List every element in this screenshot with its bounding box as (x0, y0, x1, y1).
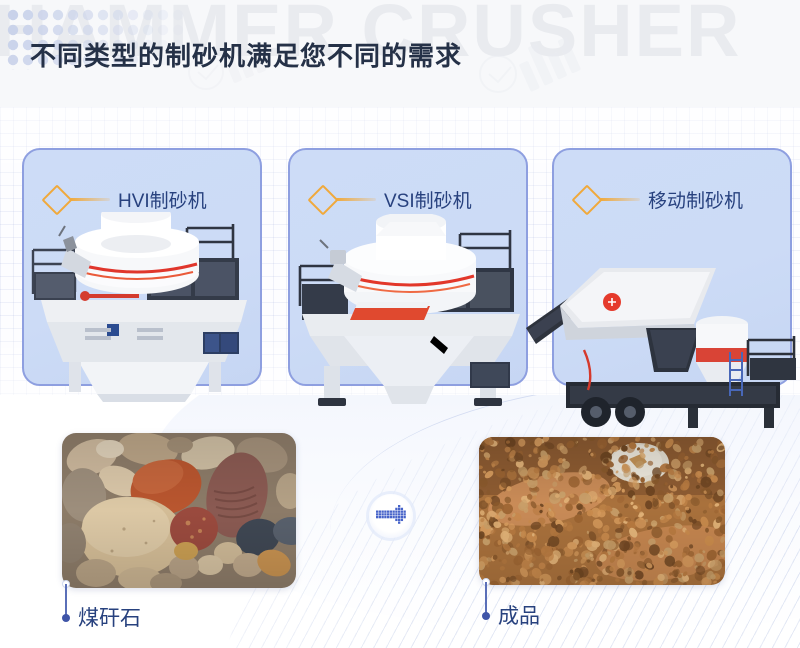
input-material-label: 煤矸石 (78, 602, 141, 632)
diamond-marker-icon (307, 184, 338, 215)
diamond-marker-icon (571, 184, 602, 215)
card-vsi-header: VSI制砂机 (312, 186, 472, 213)
connector-line (65, 584, 67, 618)
card-vsi-label: VSI制砂机 (384, 186, 472, 213)
diamond-marker-icon (41, 184, 72, 215)
pixel-arrow-right-icon (369, 494, 413, 538)
mobile-sand-making-machine-icon (554, 220, 790, 410)
card-hvi-header: HVI制砂机 (46, 186, 207, 213)
card-hvi[interactable]: HVI制砂机 (22, 148, 262, 386)
header-band: HAMMER CRUSHER (0, 0, 800, 107)
lead-line-icon (70, 198, 110, 201)
card-hvi-label: HVI制砂机 (118, 186, 207, 213)
output-material-label: 成品 (498, 600, 540, 630)
card-vsi[interactable]: VSI制砂机 (288, 148, 528, 386)
page-title: 不同类型的制砂机满足您不同的需求 (30, 36, 462, 73)
hvi-sand-making-machine-icon (24, 220, 260, 410)
card-mobile-header: 移动制砂机 (576, 186, 743, 213)
river-pebbles-photo-icon (62, 433, 296, 588)
finished-sand-photo-icon (479, 437, 725, 585)
output-material-photo (479, 437, 725, 585)
input-material-photo (62, 433, 296, 588)
promo-banner: HAMMER CRUSHER (0, 0, 800, 648)
connector-dot-bottom (62, 614, 70, 622)
vsi-sand-making-machine-icon (290, 220, 526, 410)
lead-line-icon (336, 198, 376, 201)
card-mobile-label: 移动制砂机 (648, 186, 743, 213)
lead-line-icon (600, 198, 640, 201)
connector-dot-bottom (482, 612, 490, 620)
connector-line (485, 582, 487, 616)
card-mobile[interactable]: 移动制砂机 (552, 148, 792, 386)
